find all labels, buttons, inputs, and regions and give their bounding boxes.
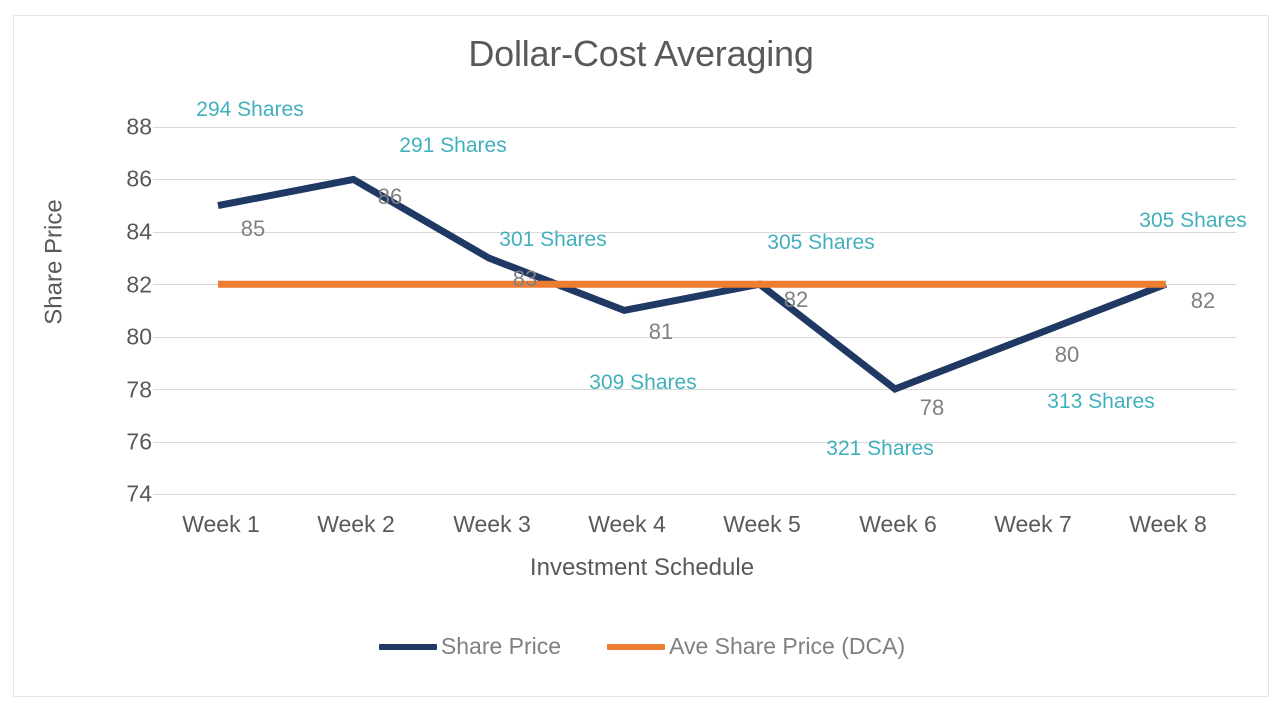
x-axis-title: Investment Schedule xyxy=(14,554,1270,582)
x-tick-label: Week 8 xyxy=(1129,511,1207,538)
shares-annotation: 301 Shares xyxy=(499,228,606,252)
data-point-label: 82 xyxy=(1191,288,1215,314)
data-point-label: 82 xyxy=(784,287,808,313)
shares-annotation: 294 Shares xyxy=(196,98,303,122)
legend-label: Ave Share Price (DCA) xyxy=(669,633,905,660)
x-tick-label: Week 2 xyxy=(317,511,395,538)
plot-area: 85 86 83 81 82 78 80 82 294 Shares 291 S… xyxy=(153,127,1236,494)
series-lines xyxy=(153,127,1236,494)
y-tick-label: 74 xyxy=(94,481,152,508)
x-tick-label: Week 7 xyxy=(994,511,1072,538)
x-tick-label: Week 3 xyxy=(453,511,531,538)
shares-annotation: 313 Shares xyxy=(1047,390,1154,414)
chart-legend: Share Price Ave Share Price (DCA) xyxy=(14,633,1270,660)
x-tick-label: Week 1 xyxy=(182,511,260,538)
data-point-label: 85 xyxy=(241,216,265,242)
legend-item-ave-share-price[interactable]: Ave Share Price (DCA) xyxy=(607,633,905,660)
y-tick-label: 84 xyxy=(94,219,152,246)
y-tick-label: 78 xyxy=(94,377,152,404)
x-tick-label: Week 6 xyxy=(859,511,937,538)
legend-item-share-price[interactable]: Share Price xyxy=(379,633,561,660)
y-axis-title: Share Price xyxy=(41,199,69,324)
legend-swatch-icon xyxy=(379,644,437,650)
shares-annotation: 305 Shares xyxy=(1139,209,1246,233)
shares-annotation: 321 Shares xyxy=(826,437,933,461)
data-point-label: 83 xyxy=(513,266,537,292)
y-tick-label: 86 xyxy=(94,166,152,193)
legend-swatch-icon xyxy=(607,644,665,650)
chart-container: Dollar-Cost Averaging Share Price Invest… xyxy=(13,15,1269,697)
chart-title: Dollar-Cost Averaging xyxy=(14,33,1268,75)
legend-label: Share Price xyxy=(441,633,561,660)
data-point-label: 80 xyxy=(1055,342,1079,368)
shares-annotation: 309 Shares xyxy=(589,371,696,395)
gridline xyxy=(153,494,1236,495)
y-tick-label: 82 xyxy=(94,272,152,299)
data-point-label: 78 xyxy=(920,395,944,421)
y-tick-label: 80 xyxy=(94,324,152,351)
shares-annotation: 291 Shares xyxy=(399,134,506,158)
shares-annotation: 305 Shares xyxy=(767,231,874,255)
data-point-label: 81 xyxy=(649,319,673,345)
x-tick-label: Week 4 xyxy=(588,511,666,538)
y-tick-label: 88 xyxy=(94,114,152,141)
x-tick-label: Week 5 xyxy=(723,511,801,538)
data-point-label: 86 xyxy=(378,184,402,210)
y-tick-label: 76 xyxy=(94,429,152,456)
